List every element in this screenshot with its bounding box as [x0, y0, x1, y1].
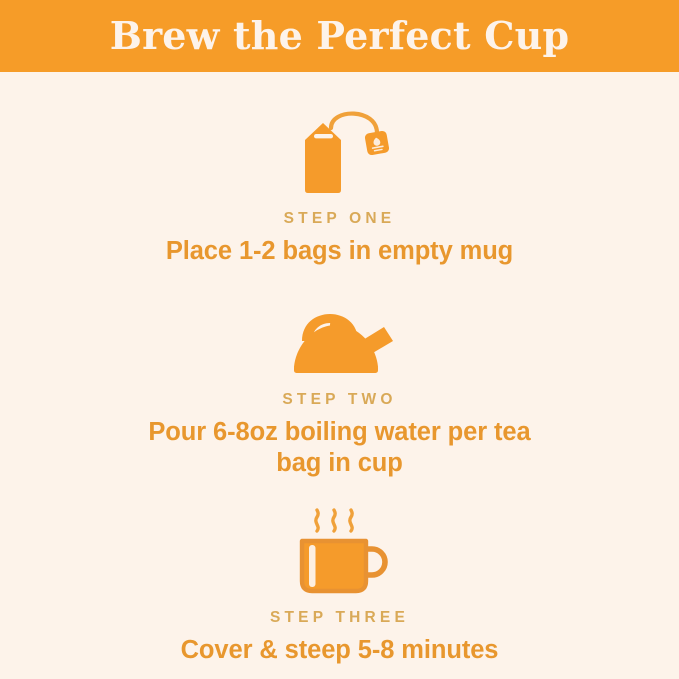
step-label-three: STEP THREE: [270, 609, 409, 627]
step-item-three: STEP THREE Cover & steep 5-8 minutes: [0, 505, 679, 666]
steaming-mug-icon: [288, 505, 392, 597]
step-label-two: STEP TWO: [282, 391, 396, 409]
step-text-two: Pour 6-8oz boiling water per tea bag in …: [140, 417, 540, 479]
brew-instructions-poster: Brew the Perfect Cup: [0, 0, 679, 679]
page-title: Brew the Perfect Cup: [110, 17, 569, 55]
kettle-icon: [280, 297, 400, 379]
step-item-two: STEP TWO Pour 6-8oz boiling water per te…: [0, 297, 679, 479]
step-text-one: Place 1-2 bags in empty mug: [166, 236, 513, 267]
step-label-one: STEP ONE: [284, 210, 396, 228]
steps-list: STEP ONE Place 1-2 bags in empty mug: [0, 72, 679, 679]
step-item-one: STEP ONE Place 1-2 bags in empty mug: [0, 106, 679, 267]
step-text-three: Cover & steep 5-8 minutes: [181, 635, 499, 666]
tea-bag-icon: [285, 106, 395, 198]
header-banner: Brew the Perfect Cup: [0, 0, 679, 72]
